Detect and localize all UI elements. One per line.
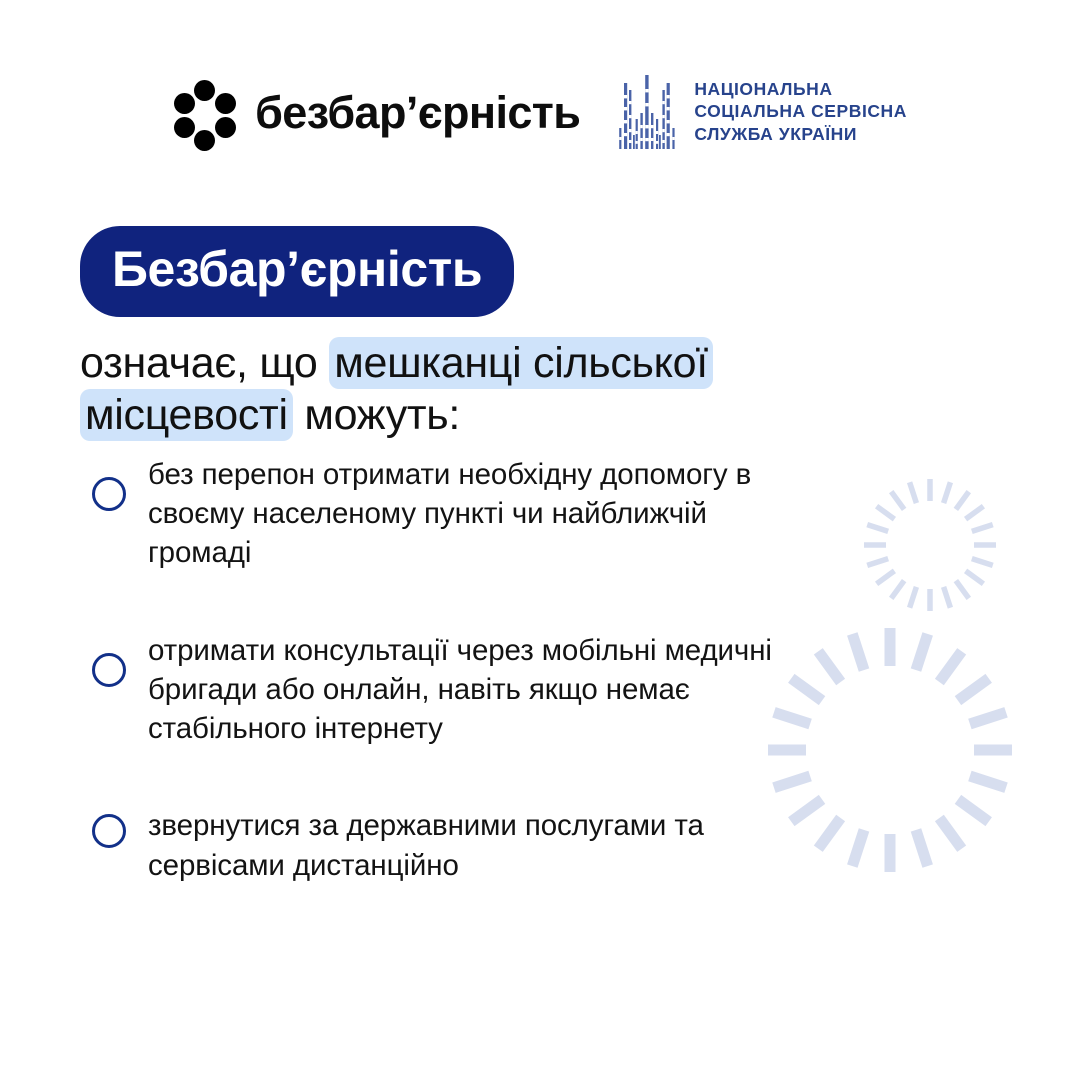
- bezbariernist-wordmark: безбар’єрність: [255, 90, 580, 135]
- headline-pill-badge: Безбар’єрність: [80, 226, 514, 317]
- gov-line-2: СОЦІАЛЬНА СЕРВІСНА: [694, 102, 907, 122]
- sunburst-dashes-icon: [762, 622, 1018, 878]
- trident-bars-emblem-icon: [616, 73, 678, 151]
- list-item-text: звернутися за державними послугами та се…: [148, 806, 792, 884]
- list-item-text: без перепон отримати необхідну допомогу …: [148, 455, 792, 573]
- gov-logo-text: НАЦІОНАЛЬНА СОЦІАЛЬНА СЕРВІСНА СЛУЖБА УК…: [694, 80, 907, 145]
- gov-line-3: СЛУЖБА УКРАЇНИ: [694, 125, 907, 145]
- poster-canvas: безбар’єрність: [0, 0, 1080, 1080]
- list-item: отримати консультації через мобільні мед…: [92, 631, 792, 749]
- subtitle-prefix: означає, що: [80, 339, 329, 387]
- list-item: звернутися за державними послугами та се…: [92, 806, 792, 884]
- benefits-list: без перепон отримати необхідну допомогу …: [92, 455, 792, 885]
- subtitle-suffix: можуть:: [293, 391, 460, 439]
- gov-line-1: НАЦІОНАЛЬНА: [694, 80, 907, 100]
- sunburst-dashes-icon: [860, 475, 1000, 615]
- headline-block: Безбар’єрність означає, що мешканці сіль…: [80, 226, 840, 442]
- list-item-text: отримати консультації через мобільні мед…: [148, 631, 792, 749]
- headline-subtitle: означає, що мешканці сільської місцевост…: [80, 337, 780, 442]
- national-social-service-logo: НАЦІОНАЛЬНА СОЦІАЛЬНА СЕРВІСНА СЛУЖБА УК…: [616, 73, 907, 151]
- circle-outline-icon: [92, 653, 126, 687]
- list-item: без перепон отримати необхідну допомогу …: [92, 455, 792, 573]
- circle-outline-icon: [92, 477, 126, 511]
- header: безбар’єрність: [0, 62, 1080, 162]
- circle-outline-icon: [92, 814, 126, 848]
- bezbariernist-logo: безбар’єрність: [173, 80, 580, 144]
- six-dots-hexagon-icon: [173, 80, 237, 144]
